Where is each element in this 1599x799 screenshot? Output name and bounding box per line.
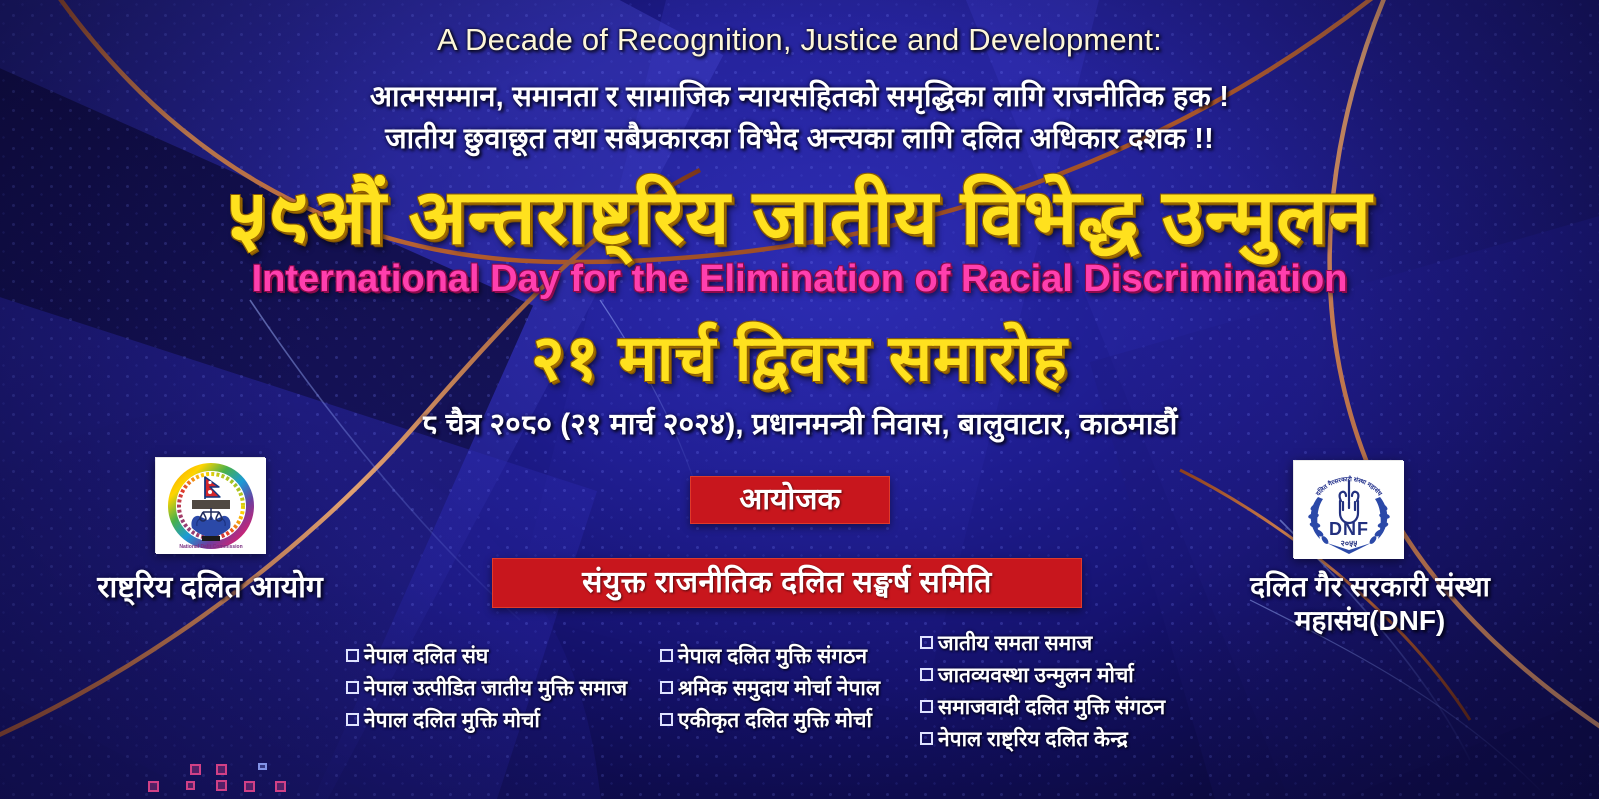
checkbox-icon [920,732,933,745]
organizer-label-badge: आयोजक [690,476,890,524]
list-item: नेपाल दलित मुक्ति संगठन [660,641,880,673]
checkbox-icon [660,713,673,726]
svg-text:२०५५: २०५५ [1341,539,1358,548]
left-logo-caption: राष्ट्रिय दलित आयोग [20,565,400,606]
member-org-label: जातीय समता समाज [938,632,1092,655]
member-org-label: नेपाल उत्पीडित जातीय मुक्ति समाज [364,677,627,700]
right-logo-caption-line-2: महासंघ(DNF) [1170,604,1570,638]
checkbox-icon [920,668,933,681]
checkbox-icon [660,649,673,662]
list-item: श्रमिक समुदाय मोर्चा नेपाल [660,673,880,705]
list-item: नेपाल राष्ट्रिय दलित केन्द्र [920,724,1165,756]
venue-and-date: ८ चैत्र २०८० (२१ मार्च २०२४), प्रधानमन्त… [0,402,1599,443]
checkbox-icon [920,636,933,649]
main-title-nepali: ५९औं अन्तराष्ट्रिय जातीय विभेद्ध उन्मुलन [0,163,1599,266]
decor-chip [258,763,267,770]
member-org-label: जातव्यवस्था उन्मुलन मोर्चा [938,664,1134,687]
organizer-committee-bar: संयुक्त राजनीतिक दलित सङ्घर्ष समिति [492,558,1082,608]
member-org-column-3: जातीय समता समाज जातव्यवस्था उन्मुलन मोर्… [920,628,1165,756]
national-dalit-commission-logo: National Dalit Commission [155,457,265,553]
member-org-label: नेपाल दलित संघ [364,645,488,668]
main-title-english: International Day for the Elimination of… [0,258,1599,301]
right-logo-caption-line-1: दलित गैर सरकारी संस्था [1170,570,1570,604]
decor-chip [148,781,159,792]
checkbox-icon [346,649,359,662]
checkbox-icon [920,700,933,713]
list-item: नेपाल दलित मुक्ति मोर्चा [346,705,627,737]
english-tagline: A Decade of Recognition, Justice and Dev… [0,22,1599,58]
checkbox-icon [660,681,673,694]
list-item: जातीय समता समाज [920,628,1165,660]
checkbox-icon [346,681,359,694]
decor-chip [244,781,255,792]
dnf-logo: दलित गैरसरकारी संस्था महासंघ [1293,460,1403,558]
nepali-slogan-line-2: जातीय छुवाछूत तथा सबैप्रकारका विभेद अन्त… [0,118,1599,157]
svg-text:National Dalit Commission: National Dalit Commission [179,544,242,550]
list-item: समाजवादी दलित मुक्ति संगठन [920,692,1165,724]
decor-chip [216,764,227,775]
nepali-slogan-line-1: आत्मसम्मान, समानता र सामाजिक न्यायसहितको… [0,76,1599,115]
member-org-label: नेपाल दलित मुक्ति संगठन [678,645,867,668]
list-item: नेपाल उत्पीडित जातीय मुक्ति समाज [346,673,627,705]
member-org-label: एकीकृत दलित मुक्ति मोर्चा [678,709,872,732]
decor-chip [216,780,227,791]
member-org-column-1: नेपाल दलित संघ नेपाल उत्पीडित जातीय मुक्… [346,641,627,737]
decor-chip [186,781,195,790]
member-org-column-2: नेपाल दलित मुक्ति संगठन श्रमिक समुदाय मो… [660,641,880,737]
event-title-nepali: २१ मार्च द्विवस समारोह [0,312,1599,399]
event-banner: A Decade of Recognition, Justice and Dev… [0,0,1599,799]
list-item: जातव्यवस्था उन्मुलन मोर्चा [920,660,1165,692]
member-org-label: नेपाल दलित मुक्ति मोर्चा [364,709,540,732]
member-org-label: समाजवादी दलित मुक्ति संगठन [938,696,1165,719]
list-item: नेपाल दलित संघ [346,641,627,673]
right-logo-caption: दलित गैर सरकारी संस्था महासंघ(DNF) [1170,570,1570,638]
svg-text:DNF: DNF [1329,519,1369,539]
decor-chip [275,781,286,792]
list-item: एकीकृत दलित मुक्ति मोर्चा [660,705,880,737]
decor-chip [190,764,201,775]
checkbox-icon [346,713,359,726]
member-org-label: श्रमिक समुदाय मोर्चा नेपाल [678,677,880,700]
member-org-label: नेपाल राष्ट्रिय दलित केन्द्र [938,728,1128,751]
